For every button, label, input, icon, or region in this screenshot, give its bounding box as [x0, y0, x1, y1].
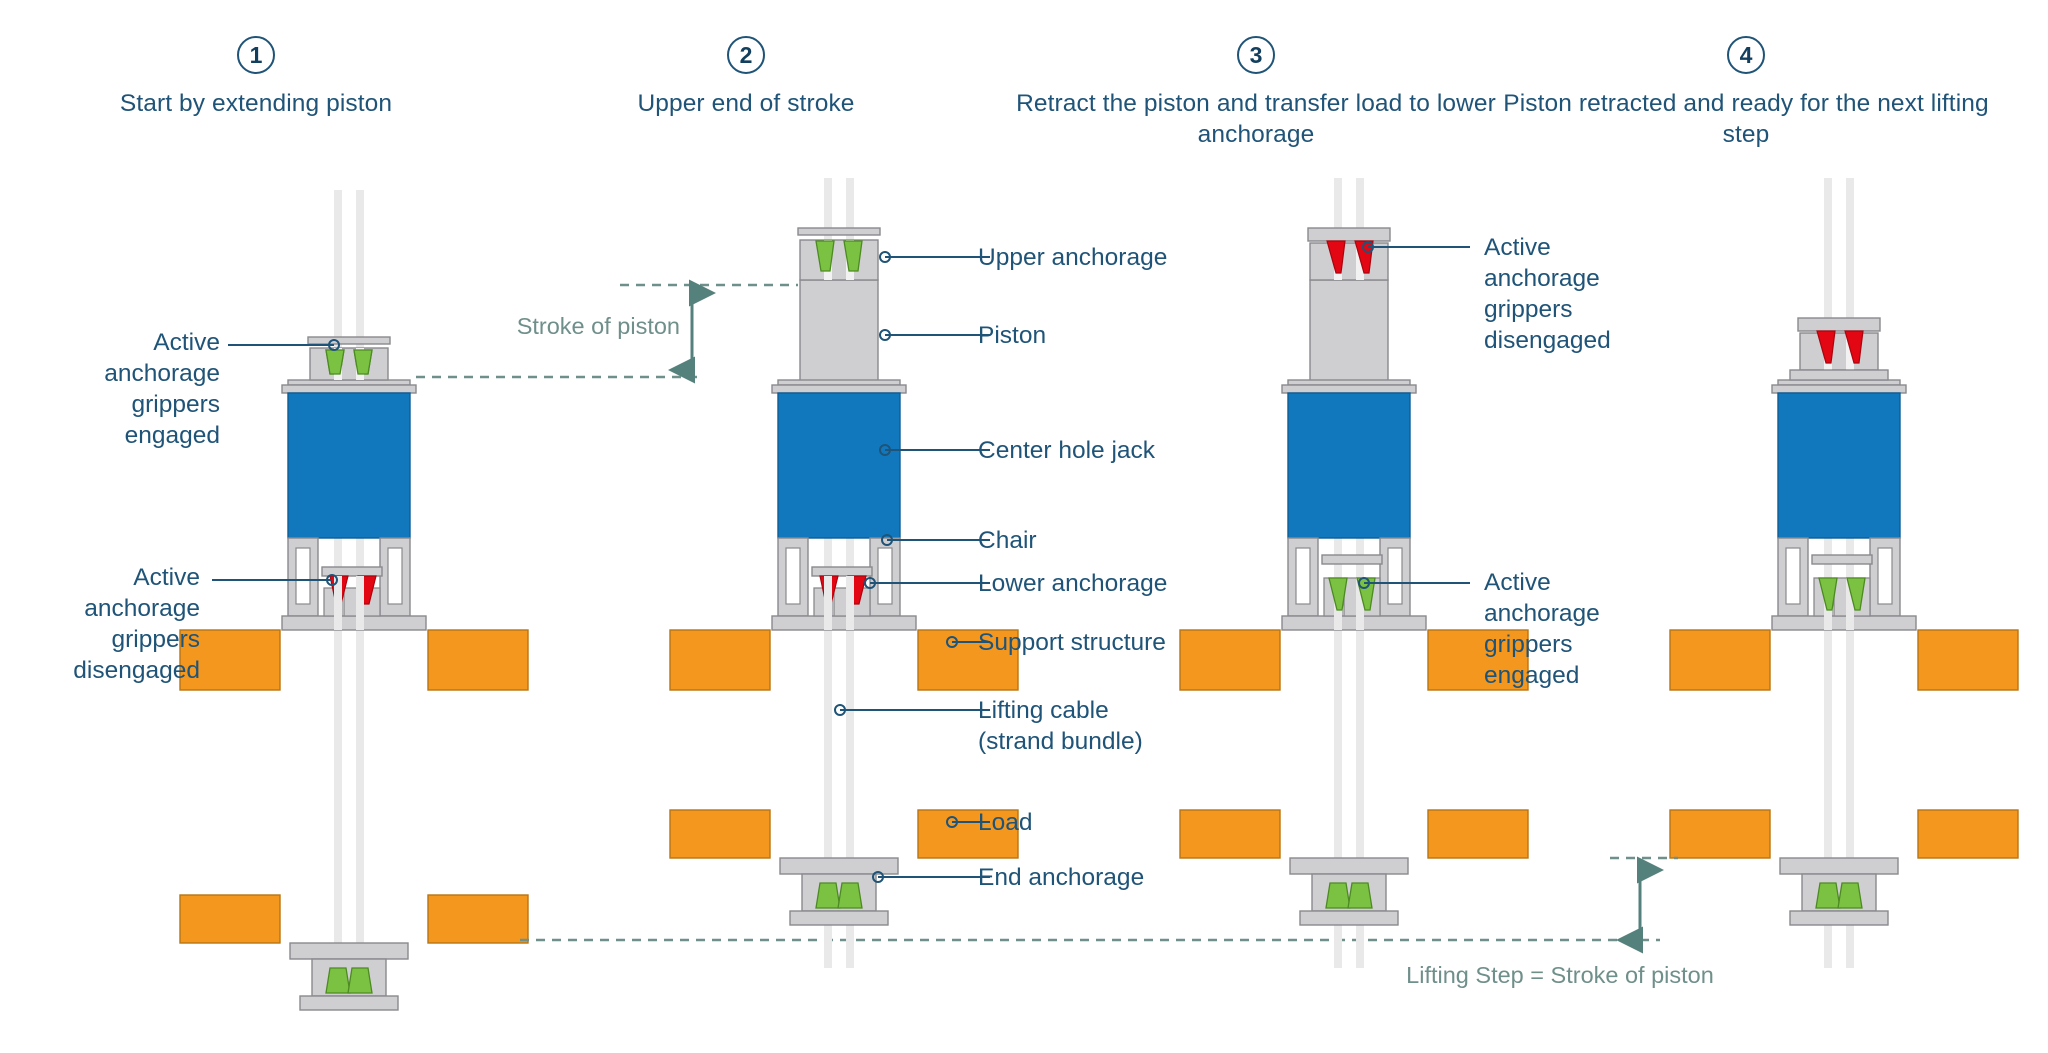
upper-anchorage-cap-plate [798, 228, 880, 235]
panel-step-2: 2 Upper end of stroke [490, 0, 1002, 1053]
jack-flange [282, 385, 416, 393]
jack-flange [772, 385, 906, 393]
support-structure-left [670, 630, 770, 690]
end-anchorage-bearing-plate [1780, 858, 1898, 874]
center-hole-jack-body [1288, 393, 1410, 538]
end-anchorage-assembly [290, 943, 408, 1010]
end-anchorage-assembly [1780, 858, 1898, 925]
lifting-cable-strands [1824, 178, 1854, 968]
support-structure-right [1918, 630, 2018, 690]
end-anchorage-nut-plate [790, 911, 888, 925]
lifting-step-label: Lifting Step = Stroke of piston [1330, 962, 1790, 989]
lower-anchorage-pull-plate [1322, 555, 1382, 564]
panel-2-drawing [490, 0, 1002, 1053]
jack-flange [1282, 385, 1416, 393]
jack-top-plate [288, 380, 410, 385]
piston-rod [1310, 280, 1388, 385]
upper-anchorage-block [800, 240, 878, 280]
chair-base-plate [1772, 616, 1916, 630]
panel-1-drawing [0, 0, 512, 1053]
load-left [1670, 810, 1770, 858]
upper-anchorage-assembly [1790, 318, 1888, 380]
upper-anchorage-assembly [798, 228, 880, 280]
end-anchorage-assembly [780, 858, 898, 925]
upper-anchorage-cap-plate [308, 337, 390, 344]
chair-base-plate [772, 616, 916, 630]
jack-top-plate [1778, 380, 1900, 385]
gripper-wedge-green [1326, 883, 1350, 908]
gripper-wedge-green [348, 968, 372, 993]
jack-top-plate [1288, 380, 1410, 385]
load-left [1180, 810, 1280, 858]
load-right [1918, 810, 2018, 858]
jack-top-plate [778, 380, 900, 385]
upper-anchorage-cap-plate [1308, 228, 1390, 241]
end-anchorage-nut-plate [1790, 911, 1888, 925]
panel-3-drawing [1000, 0, 1512, 1053]
lower-anchorage-pull-plate [812, 567, 872, 576]
gripper-wedge-green [816, 883, 840, 908]
gripper-wedge-green [326, 968, 350, 993]
center-hole-jack-body [778, 393, 900, 538]
chair-base-plate [1282, 616, 1426, 630]
gripper-wedge-green [1816, 883, 1840, 908]
center-hole-jack-body [1778, 393, 1900, 538]
jack-flange [1772, 385, 1906, 393]
chair-base-plate [282, 616, 426, 630]
end-anchorage-nut-plate [300, 996, 398, 1010]
panel-step-4: 4 Piston retracted and ready for the nex… [1490, 0, 2002, 1053]
lifting-sequence-diagram: 1 Start by extending piston [0, 0, 2048, 1053]
upper-anchorage-cap-plate [1798, 318, 1880, 331]
upper-anchorage-block [1310, 243, 1388, 280]
gripper-wedge-green [1348, 883, 1372, 908]
support-structure-left [1180, 630, 1280, 690]
panel-1-lower-label: Active anchorage grippers disengaged [0, 562, 200, 686]
panel-1-upper-label: Active anchorage grippers engaged [20, 327, 220, 451]
upper-anchorage-assembly [1308, 228, 1390, 280]
stroke-of-piston-label: Stroke of piston [508, 313, 680, 340]
gripper-wedge-green [1838, 883, 1862, 908]
lower-anchorage-pull-plate [1812, 555, 1872, 564]
end-anchorage-bearing-plate [290, 943, 408, 959]
panel-4-drawing [1490, 0, 2002, 1053]
piston-rod [800, 280, 878, 385]
end-anchorage-bearing-plate [1290, 858, 1408, 874]
panel-step-3: 3 Retract the piston and transfer load t… [1000, 0, 1512, 1053]
upper-anchorage-block [310, 348, 388, 380]
end-anchorage-nut-plate [1300, 911, 1398, 925]
upper-anchorage-block [1800, 333, 1878, 370]
panel-step-1: 1 Start by extending piston [0, 0, 512, 1053]
load-left [670, 810, 770, 858]
gripper-wedge-green [838, 883, 862, 908]
upper-anchorage-assembly [308, 337, 390, 380]
center-hole-jack-body [288, 393, 410, 538]
load-left [180, 895, 280, 943]
support-structure-left [1670, 630, 1770, 690]
end-anchorage-assembly [1290, 858, 1408, 925]
